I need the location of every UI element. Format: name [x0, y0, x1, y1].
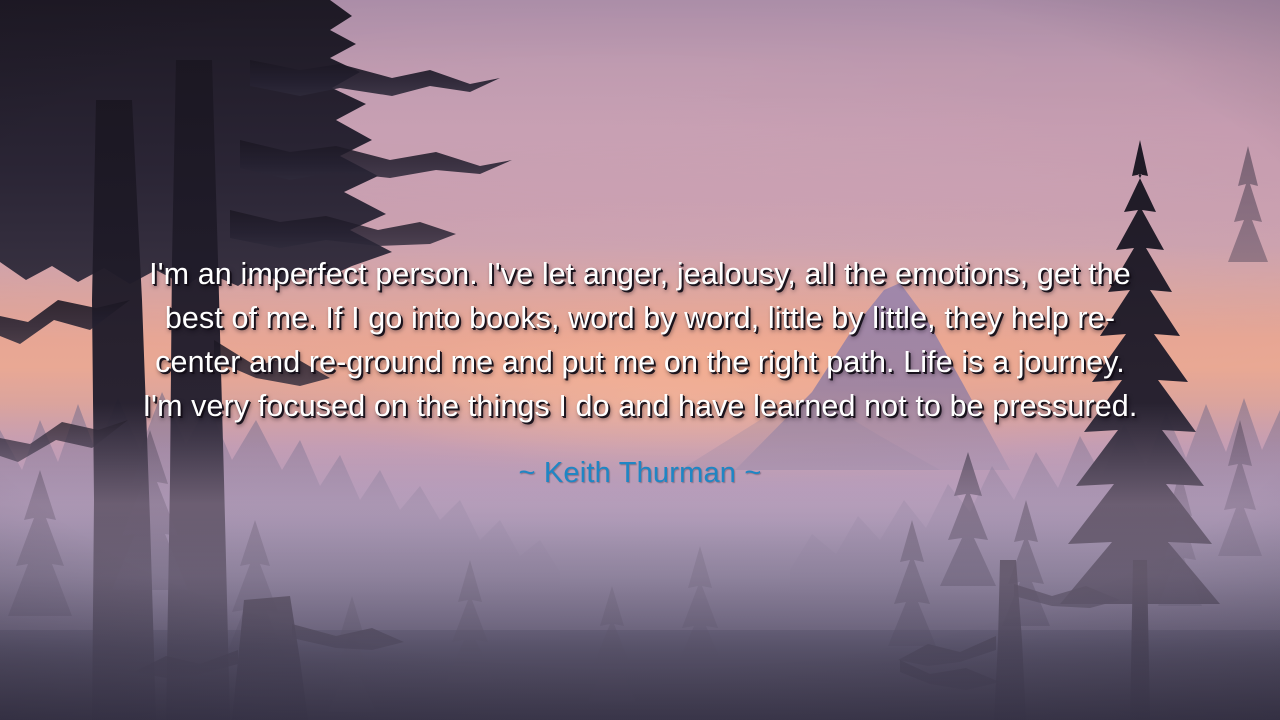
quote-author: ~ Keith Thurman ~ [60, 455, 1220, 491]
quote-block: I'm an imperfect person. I've let anger,… [0, 252, 1280, 491]
quote-wallpaper: I'm an imperfect person. I've let anger,… [0, 0, 1280, 720]
quote-text: I'm an imperfect person. I've let anger,… [135, 252, 1145, 428]
